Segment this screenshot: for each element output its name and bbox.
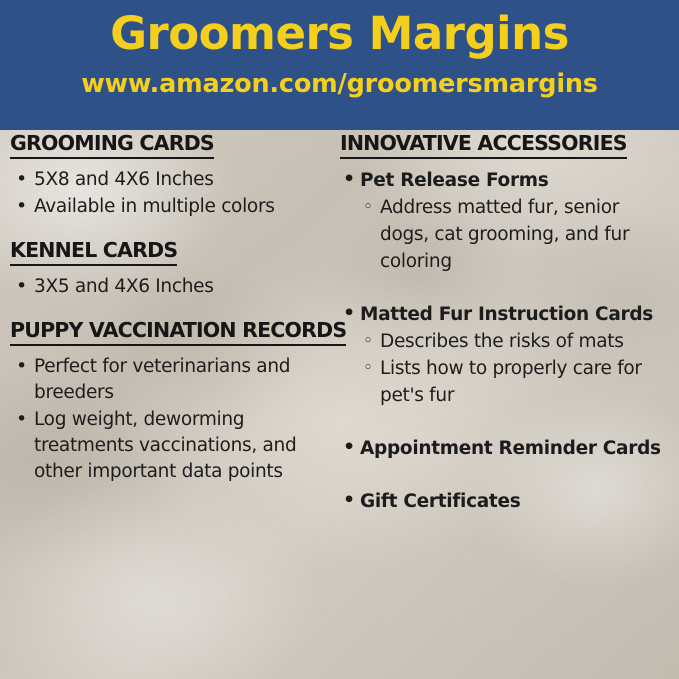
section-heading-puppy-vaccination-records: PUPPY VACCINATION RECORDS — [10, 317, 346, 346]
list-item: 5X8 and 4X6 Inches — [10, 167, 336, 193]
spacer — [340, 409, 672, 435]
list-subitem: Describes the risks of mats — [340, 328, 672, 355]
section-kennel-cards: KENNEL CARDS 3X5 and 4X6 Inches — [10, 237, 336, 300]
list-item-pet-release-forms: Pet Release Forms — [340, 167, 672, 194]
section-grooming-cards: GROOMING CARDS 5X8 and 4X6 Inches Availa… — [10, 130, 336, 220]
section-heading-grooming-cards: GROOMING CARDS — [10, 130, 214, 159]
section-heading-kennel-cards: KENNEL CARDS — [10, 237, 177, 266]
content-columns: GROOMING CARDS 5X8 and 4X6 Inches Availa… — [0, 130, 679, 679]
infographic-poster: Groomers Margins www.amazon.com/groomers… — [0, 0, 679, 679]
store-url: www.amazon.com/groomersmargins — [0, 65, 679, 101]
list-matted-fur-instruction-cards: Matted Fur Instruction Cards Describes t… — [340, 301, 672, 409]
spacer — [10, 221, 336, 237]
list-puppy-vaccination-records: Perfect for veterinarians and breeders L… — [10, 354, 336, 485]
spacer — [10, 346, 336, 354]
list-subitem: Address matted fur, senior dogs, cat gro… — [340, 194, 672, 275]
list-item: Perfect for veterinarians and breeders — [10, 354, 336, 406]
spacer — [340, 159, 672, 167]
list-item-matted-fur-instruction-cards: Matted Fur Instruction Cards — [340, 301, 672, 328]
list-appointment-reminder-cards: Appointment Reminder Cards — [340, 435, 672, 462]
page-title: Groomers Margins — [0, 0, 679, 65]
list-grooming-cards: 5X8 and 4X6 Inches Available in multiple… — [10, 167, 336, 220]
poster-header: Groomers Margins www.amazon.com/groomers… — [0, 0, 679, 130]
list-item: Log weight, deworming treatments vaccina… — [10, 407, 336, 485]
right-column: INNOVATIVE ACCESSORIES Pet Release Forms… — [340, 130, 672, 515]
list-gift-certificates: Gift Certificates — [340, 488, 672, 515]
spacer — [340, 462, 672, 488]
spacer — [340, 275, 672, 301]
list-item: 3X5 and 4X6 Inches — [10, 274, 336, 300]
list-innovative-accessories: Pet Release Forms Address matted fur, se… — [340, 167, 672, 275]
list-item: Available in multiple colors — [10, 194, 336, 220]
list-item-gift-certificates: Gift Certificates — [340, 488, 672, 515]
spacer — [10, 301, 336, 317]
left-column: GROOMING CARDS 5X8 and 4X6 Inches Availa… — [10, 130, 336, 486]
list-kennel-cards: 3X5 and 4X6 Inches — [10, 274, 336, 300]
spacer — [10, 266, 336, 274]
spacer — [10, 159, 336, 167]
section-puppy-vaccination-records: PUPPY VACCINATION RECORDS Perfect for ve… — [10, 317, 336, 485]
list-item-appointment-reminder-cards: Appointment Reminder Cards — [340, 435, 672, 462]
section-heading-innovative-accessories: INNOVATIVE ACCESSORIES — [340, 130, 627, 159]
list-subitem: Lists how to properly care for pet's fur — [340, 355, 672, 409]
